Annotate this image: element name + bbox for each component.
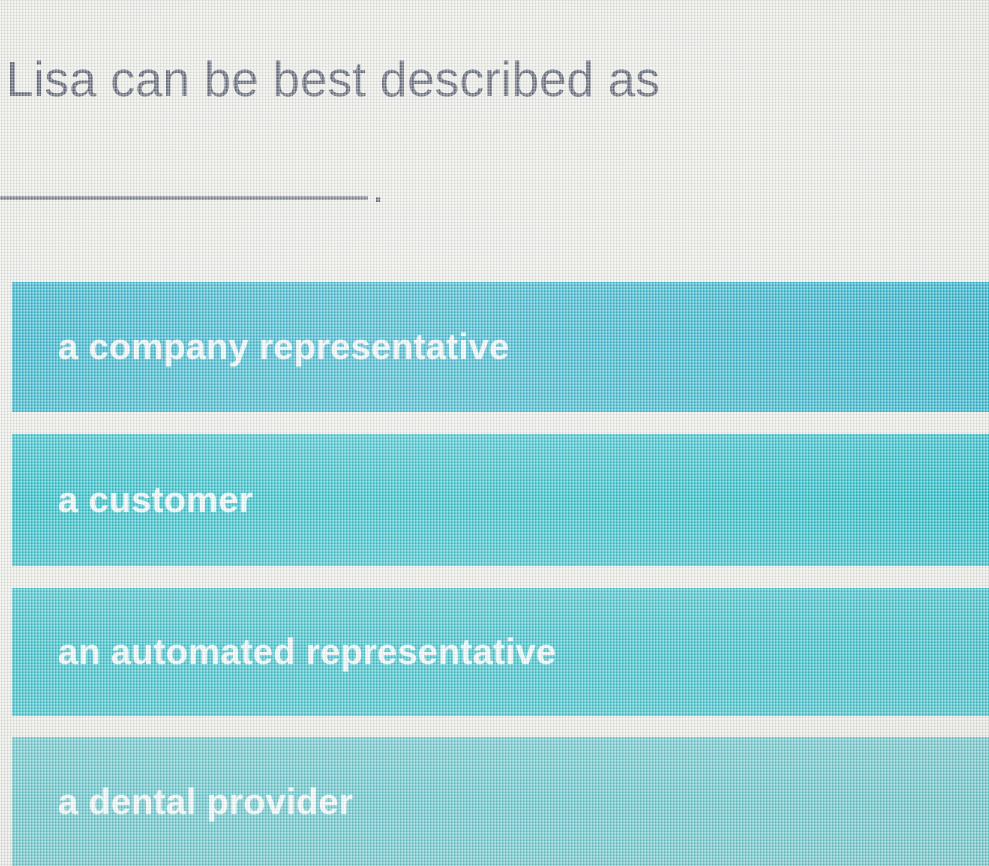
quiz-screen: Lisa can be best described as . a compan…	[0, 0, 989, 866]
answer-option-label: a company representative	[58, 326, 509, 368]
answer-option-1[interactable]: a customer	[12, 434, 989, 566]
answer-option-2[interactable]: an automated representative	[12, 588, 989, 716]
answer-option-label: a dental provider	[58, 781, 353, 823]
question-prompt: Lisa can be best described as	[6, 53, 966, 109]
answer-option-0[interactable]: a company representative	[12, 282, 989, 412]
answer-option-3[interactable]: a dental provider	[12, 737, 989, 866]
answer-option-label: an automated representative	[58, 631, 556, 673]
blank-period: .	[372, 166, 384, 210]
answer-option-label: a customer	[58, 479, 253, 521]
blank-underline	[0, 196, 368, 200]
fill-in-blank: .	[0, 182, 400, 212]
